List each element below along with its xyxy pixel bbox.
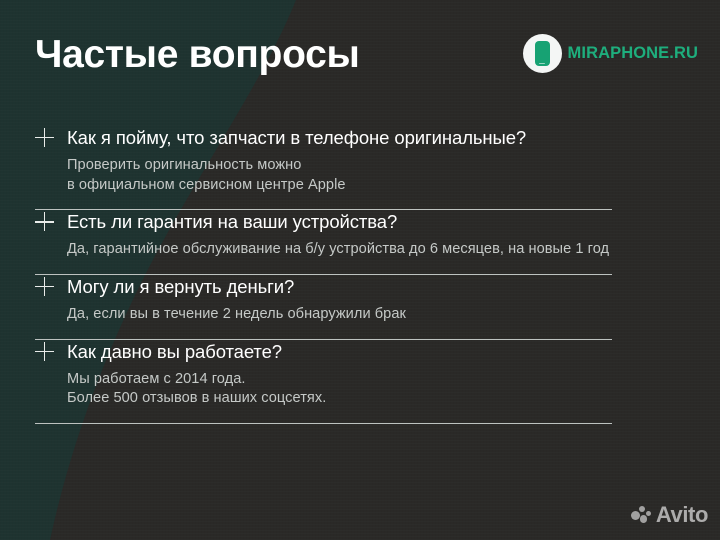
avito-dots-icon — [631, 505, 652, 525]
faq-answer: Да, гарантийное обслуживание на б/у устр… — [67, 240, 685, 260]
faq-question: Есть ли гарантия на ваши устройства? — [67, 210, 397, 233]
faq-divider — [35, 423, 612, 424]
faq-item[interactable]: Как я пойму, что запчасти в телефоне ори… — [35, 126, 685, 210]
plus-icon[interactable] — [35, 128, 67, 150]
plus-icon[interactable] — [35, 342, 67, 364]
faq-question: Могу ли я вернуть деньги? — [67, 275, 294, 298]
phone-icon — [535, 41, 550, 66]
faq-item[interactable]: Есть ли гарантия на ваши устройства? Да,… — [35, 210, 685, 275]
brand-mark-circle — [523, 34, 562, 73]
brand-logo[interactable]: MIRAPHONE.RU — [523, 34, 698, 73]
faq-item[interactable]: Как давно вы работаете? Мы работаем с 20… — [35, 340, 685, 424]
faq-slide: Частые вопросы MIRAPHONE.RU Как я пойму,… — [0, 0, 720, 540]
faq-question: Как я пойму, что запчасти в телефоне ори… — [67, 126, 526, 149]
faq-question-row[interactable]: Могу ли я вернуть деньги? — [35, 275, 685, 299]
brand-name: MIRAPHONE.RU — [568, 44, 698, 63]
faq-question-row[interactable]: Как я пойму, что запчасти в телефоне ори… — [35, 126, 685, 150]
header: Частые вопросы MIRAPHONE.RU — [35, 26, 698, 86]
faq-list: Как я пойму, что запчасти в телефоне ори… — [35, 126, 685, 424]
faq-answer: Мы работаем с 2014 года. Более 500 отзыв… — [67, 370, 685, 409]
faq-answer: Проверить оригинальность можно в официал… — [67, 156, 685, 195]
plus-icon[interactable] — [35, 212, 67, 234]
avito-label: Avito — [656, 504, 708, 526]
avito-watermark: Avito — [631, 504, 708, 526]
faq-question: Как давно вы работаете? — [67, 340, 282, 363]
plus-icon[interactable] — [35, 277, 67, 299]
faq-question-row[interactable]: Есть ли гарантия на ваши устройства? — [35, 210, 685, 234]
faq-item[interactable]: Могу ли я вернуть деньги? Да, если вы в … — [35, 275, 685, 340]
faq-question-row[interactable]: Как давно вы работаете? — [35, 340, 685, 364]
faq-answer: Да, если вы в течение 2 недель обнаружил… — [67, 305, 685, 325]
